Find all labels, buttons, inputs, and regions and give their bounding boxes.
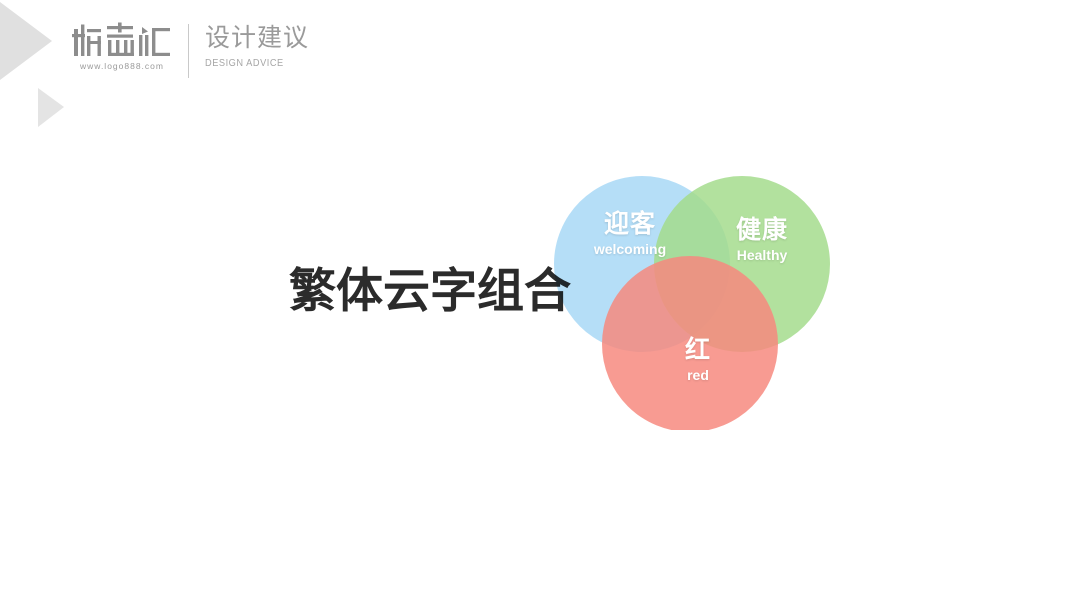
- brand-title-block: 设计建议 DESIGN ADVICE: [205, 22, 309, 69]
- triangle-right-small-icon: [38, 88, 64, 127]
- logohui-wordmark-icon: [72, 22, 172, 58]
- venn-diagram: 迎客 welcoming 健康 Healthy 红 red: [550, 168, 830, 430]
- brand-url: www.logo888.com: [80, 61, 164, 71]
- venn-circle-red: [602, 256, 778, 430]
- page-title: 繁体云字组合: [289, 268, 571, 315]
- brand-title-en: DESIGN ADVICE: [205, 57, 284, 69]
- brand-title-cn: 设计建议: [205, 24, 309, 53]
- brand-divider: [188, 24, 189, 78]
- triangle-right-large-icon: [0, 2, 52, 80]
- brand-header: www.logo888.com 设计建议 DESIGN ADVICE: [72, 22, 309, 78]
- venn-circles: [550, 168, 830, 430]
- brand-logo-block: www.logo888.com: [72, 22, 172, 71]
